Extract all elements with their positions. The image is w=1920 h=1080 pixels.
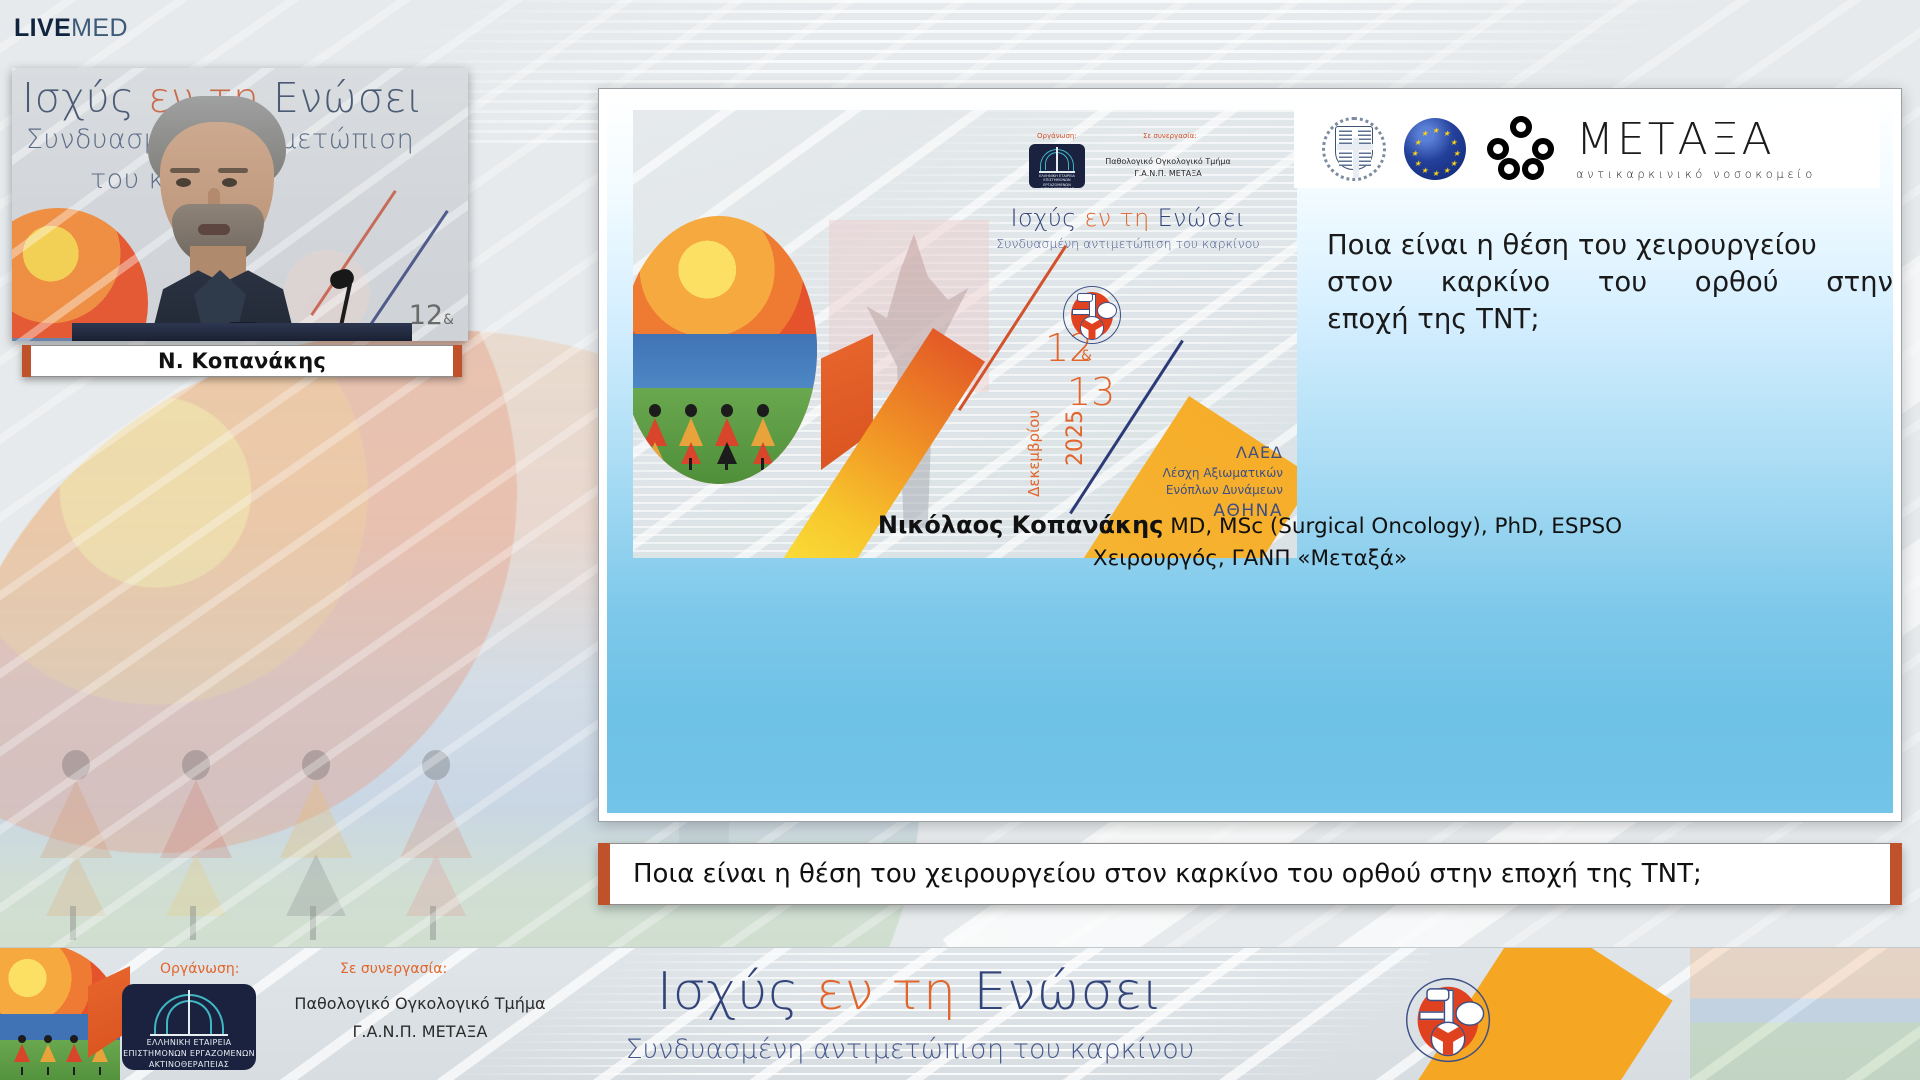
brand-med: MED (71, 14, 128, 42)
presentation-slide[interactable]: Οργάνωση: Σε συνεργασία: ΕΛΛΗΝΙΚΗ ΕΤΑΙΡΕ… (598, 88, 1902, 822)
metaxa-subtitle: αντικαρκινικό νοσοκομείο (1576, 167, 1816, 181)
poster-venue-abbr: ΛΑΕΔ (1163, 441, 1283, 464)
slide-speaker-name: Νικόλαος Κοπανάκης (878, 511, 1163, 539)
conference-poster-image: Οργάνωση: Σε συνεργασία: ΕΛΛΗΝΙΚΗ ΕΤΑΙΡΕ… (633, 110, 1297, 558)
poster-title-b: εν τη (1084, 204, 1157, 232)
poster-coop-label: Σε συνεργασία: (1143, 132, 1197, 140)
poster-year: 2025 (1063, 410, 1088, 466)
poster-subtitle: Συνδυασμένη αντιμετώπιση του καρκίνου (963, 236, 1293, 251)
poster-day-2: 13 (1067, 370, 1115, 414)
slide-question-text: Ποια είναι η θέση του χειρουργείου στον … (1327, 227, 1893, 338)
slide-speaker-block: Νικόλαος Κοπανάκης MD, MSc (Surgical Onc… (607, 507, 1893, 574)
footer-coop-text: Παθολογικό Ογκολογικό Τμήμα Γ.Α.Ν.Π. ΜΕΤ… (290, 990, 550, 1046)
awareness-ribbon-star-icon (1484, 116, 1558, 182)
talk-title-text: Ποια είναι η θέση του χειρουργείου στον … (599, 859, 1702, 889)
footer-coop-line-1: Παθολογικό Ογκολογικό Τμήμα (290, 990, 550, 1018)
footer-eeea-logo: ΕΛΛΗΝΙΚΗ ΕΤΑΙΡΕΙΑ ΕΠΙΣΤΗΜΟΝΩΝ ΕΡΓΑΖΟΜΕΝΩ… (122, 984, 256, 1070)
video-backdrop-date-value: 12 (409, 300, 443, 331)
metaxa-hospital-logo: ★★ ★★ ★★ ★★ ★★ ★★ ΜΕΤΑΞΑ αντικαρκινικό ν… (1294, 110, 1880, 188)
qword-2: καρκίνο (1441, 264, 1551, 301)
qword-1: στον (1327, 264, 1393, 301)
footer-event-title: Ισχύς εν τη Ενώσει (560, 962, 1260, 1022)
speaker-name-bar: Ν. Κοπανάκης (22, 345, 462, 377)
poster-title: Ισχύς εν τη Ενώσει (973, 204, 1283, 232)
qword-5: στην (1826, 264, 1893, 301)
poster-venue-line1: Λέσχη Αξιωματικών (1163, 465, 1283, 482)
poster-coop-text: Παθολογικό Ογκολογικό Τμήμα Γ.Α.Ν.Π. ΜΕΤ… (1103, 156, 1233, 181)
footer-title-c: Ενώσει (974, 962, 1164, 1022)
footer-right-artwork (1690, 948, 1920, 1080)
speaker-figure (98, 96, 348, 341)
poster-venue-line2: Ενόπλων Δυνάμεων (1163, 482, 1283, 499)
european-union-flag-icon: ★★ ★★ ★★ ★★ ★★ ★★ (1404, 118, 1466, 180)
qword-4: ορθού (1695, 264, 1779, 301)
poster-title-c: Ενώσει (1158, 204, 1246, 232)
poster-coop-line1: Παθολογικό Ογκολογικό Τμήμα (1103, 156, 1233, 168)
poster-ampersand: & (1081, 348, 1092, 364)
speaker-eye-right (222, 178, 237, 187)
greek-coat-of-arms-icon (1322, 117, 1386, 181)
slide-speaker-credentials: MD, MSc (Surgical Oncology), PhD, ESPSO (1163, 514, 1622, 539)
metaxa-name: ΜΕΤΑΞΑ (1576, 118, 1816, 162)
footer-eeea-line-3: ΑΚΤΙΝΟΘΕΡΑΠΕΙΑΣ (122, 1060, 256, 1071)
poster-art-water (633, 334, 817, 392)
footer-title-a: Ισχύς (657, 962, 816, 1022)
poster-title-a: Ισχύς (1011, 204, 1085, 232)
speaker-video-player[interactable]: Ισχύς εν τη Ενώσει Συνδυασμένη αντιμετώπ… (12, 68, 468, 341)
slide-canvas: Οργάνωση: Σε συνεργασία: ΕΛΛΗΝΙΚΗ ΕΤΑΙΡΕ… (607, 97, 1893, 813)
speaker-brow-right (218, 168, 248, 173)
event-footer: Οργάνωση: Σε συνεργασία: ΕΛΛΗΝΙΚΗ ΕΤΑΙΡΕ… (0, 947, 1920, 1080)
brand-live: LIVE (14, 14, 71, 42)
footer-event-subtitle: Συνδυασμένη αντιμετώπιση του καρκίνου (530, 1034, 1290, 1065)
footer-coop-line-2: Γ.Α.Ν.Π. ΜΕΤΑΞΑ (290, 1018, 550, 1046)
poster-org-label: Οργάνωση: (1037, 132, 1077, 140)
slide-question-line-1: Ποια είναι η θέση του χειρουργείου (1327, 227, 1893, 264)
footer-eeea-line-2: ΕΠΙΣΤΗΜΟΝΩΝ ΕΡΓΑΖΟΜΕΝΩΝ (122, 1049, 256, 1060)
talk-title-caption-bar: Ποια είναι η θέση του χειρουργείου στον … (598, 843, 1902, 905)
poster-eeea-logo: ΕΛΛΗΝΙΚΗ ΕΤΑΙΡΕΙΑΕΠΙΣΤΗΜΟΝΩΝ ΕΡΓΑΖΟΜΕΝΩΝ… (1029, 144, 1085, 188)
video-backdrop-date: 12& (409, 300, 454, 331)
footer-eeea-line-1: ΕΛΛΗΝΙΚΗ ΕΤΑΙΡΕΙΑ (122, 1038, 256, 1049)
speaker-brow-left (170, 168, 200, 173)
broadcast-stage: LIVEMED Ισχύς εν τη Ενώσει Συνδυασμένη α… (0, 0, 1920, 1080)
qword-3: του (1598, 264, 1647, 301)
footer-radiotherapy-emblem (1406, 978, 1490, 1062)
slide-question-line-2: στον καρκίνο του ορθού στην (1327, 264, 1893, 301)
slide-speaker-line-1: Νικόλαος Κοπανάκης MD, MSc (Surgical Onc… (607, 507, 1893, 543)
slide-speaker-affiliation: Χειρουργός, ΓΑΝΠ «Μεταξά» (607, 543, 1893, 574)
speaker-name-label: Ν. Κοπανάκης (158, 349, 326, 373)
metaxa-wordmark: ΜΕΤΑΞΑ αντικαρκινικό νοσοκομείο (1576, 118, 1816, 181)
footer-eeea-text: ΕΛΛΗΝΙΚΗ ΕΤΑΙΡΕΙΑ ΕΠΙΣΤΗΜΟΝΩΝ ΕΡΓΑΖΟΜΕΝΩ… (122, 1038, 256, 1070)
speaker-mouth (198, 224, 230, 235)
poster-coop-line2: Γ.Α.Ν.Π. ΜΕΤΑΞΑ (1103, 168, 1233, 180)
footer-coop-label: Σε συνεργασία: (340, 961, 447, 977)
podium (72, 323, 412, 341)
footer-org-label: Οργάνωση: (160, 961, 239, 977)
poster-eeea-text: ΕΛΛΗΝΙΚΗ ΕΤΑΙΡΕΙΑΕΠΙΣΤΗΜΟΝΩΝ ΕΡΓΑΖΟΜΕΝΩΝ… (1029, 174, 1085, 192)
poster-circle-artwork (633, 216, 817, 484)
slide-question-line-3: εποχή της TNT; (1327, 301, 1893, 338)
speaker-eye-left (176, 178, 191, 187)
footer-title-b: εν τη (816, 962, 973, 1022)
livemed-logo: LIVEMED (14, 14, 128, 43)
poster-month: Δεκεμβρίου (1025, 410, 1043, 497)
poster-radiotherapy-emblem (1063, 286, 1121, 344)
